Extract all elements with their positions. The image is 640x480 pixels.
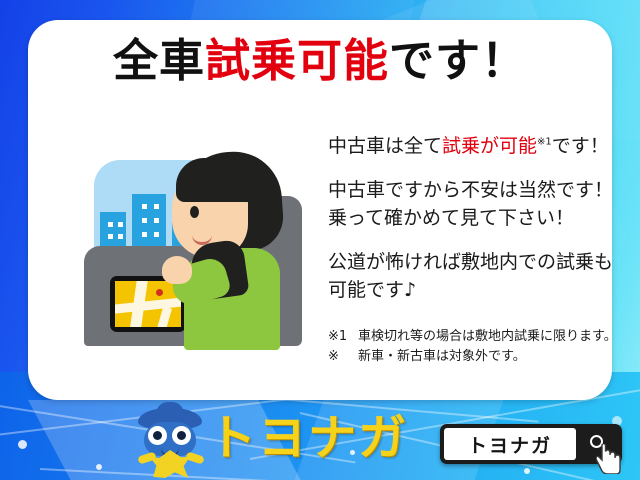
driver-hand bbox=[162, 256, 192, 284]
brand-logo-text: トヨナガ bbox=[208, 414, 408, 462]
p3-line-2: 可能です♪ bbox=[328, 279, 416, 301]
footnote-2-text: 新車・新古車は対象外です。 bbox=[358, 349, 526, 364]
footnote-2-marker: ※ bbox=[328, 347, 358, 368]
p1-pre: 中古車は全て bbox=[328, 135, 442, 157]
map-pin-icon bbox=[156, 289, 163, 296]
footnote-1: ※1車検切れ等の場合は敷地内試乗に限ります。 bbox=[328, 327, 640, 348]
hand-cursor-icon bbox=[596, 444, 622, 474]
p2-line-1: 中古車ですから不安は当然です！ bbox=[328, 179, 613, 201]
mascot-pupil bbox=[153, 431, 162, 440]
paragraph-2: 中古車ですから不安は当然です！ 乗って確かめて見て下さい！ bbox=[328, 176, 640, 232]
p2-line-2: 乗って確かめて見て下さい！ bbox=[328, 207, 574, 229]
page-title: 全車試乗可能です！ bbox=[28, 38, 612, 83]
search-bar[interactable]: トヨナガ bbox=[440, 424, 622, 464]
driving-illustration bbox=[80, 150, 312, 350]
mascot-pupil bbox=[177, 431, 186, 440]
search-input[interactable]: トヨナガ bbox=[444, 428, 576, 460]
p1-footnote-marker: ※1 bbox=[537, 137, 552, 148]
p1-highlight: 試乗が可能 bbox=[442, 135, 537, 157]
driver-eye bbox=[190, 206, 199, 218]
p1-post: です！ bbox=[552, 135, 609, 157]
body-copy: 中古車は全て試乗が可能※1です！ 中古車ですから不安は当然です！ 乗って確かめて… bbox=[328, 132, 640, 368]
banner-image: 全車試乗可能です！ bbox=[0, 0, 640, 480]
title-highlight: 試乗可能 bbox=[205, 34, 389, 87]
background-dot bbox=[18, 440, 27, 449]
toyonaga-mascot-icon bbox=[138, 406, 202, 478]
title-part-2: です！ bbox=[389, 34, 527, 87]
footnotes: ※1車検切れ等の場合は敷地内試乗に限ります。 ※新車・新古車は対象外です。 bbox=[328, 327, 640, 369]
paragraph-3: 公道が怖ければ敷地内での試乗も 可能です♪ bbox=[328, 248, 640, 304]
search-input-value: トヨナガ bbox=[468, 431, 552, 458]
map-road bbox=[155, 306, 172, 327]
footnote-1-text: 車検切れ等の場合は敷地内試乗に限ります。 bbox=[358, 329, 617, 344]
background-dot bbox=[96, 464, 102, 470]
footnote-1-marker: ※1 bbox=[328, 327, 358, 348]
title-part-1: 全車 bbox=[113, 34, 205, 87]
content-card: 全車試乗可能です！ bbox=[28, 20, 612, 400]
p3-line-1: 公道が怖ければ敷地内での試乗も bbox=[328, 251, 613, 273]
background-dot bbox=[524, 468, 530, 474]
map-display bbox=[115, 281, 181, 327]
footnote-2: ※新車・新古車は対象外です。 bbox=[328, 347, 640, 368]
paragraph-1: 中古車は全て試乗が可能※1です！ bbox=[328, 132, 640, 160]
